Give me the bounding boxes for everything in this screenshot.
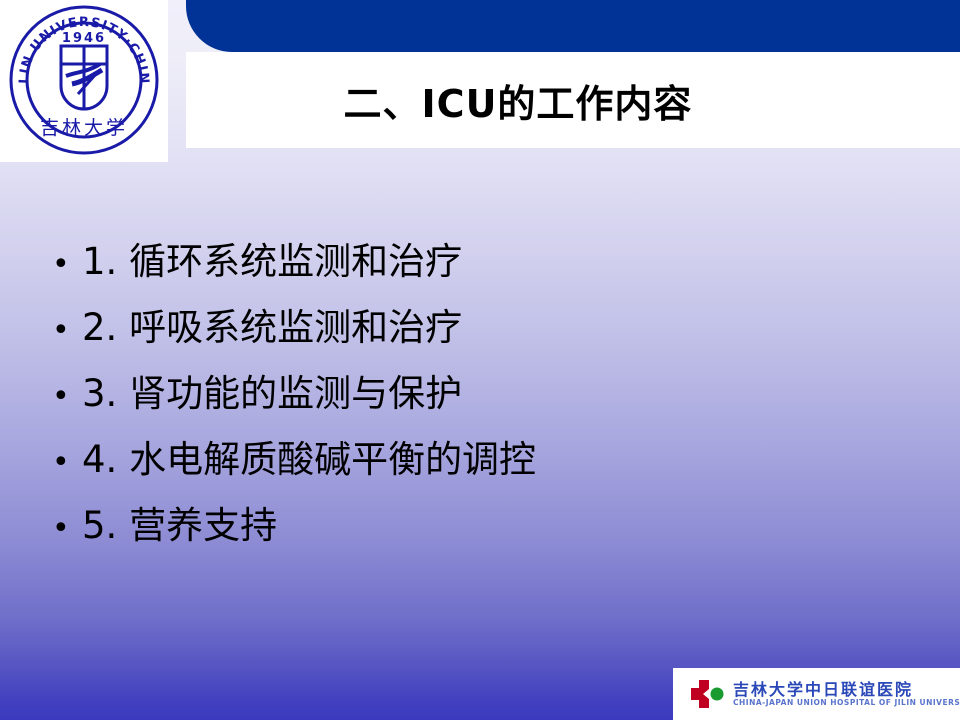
- list-item: • 3. 肾功能的监测与保护: [52, 375, 912, 441]
- hospital-logo-box: 吉林大学中日联谊医院 CHINA-JAPAN UNION HOSPITAL OF…: [673, 668, 960, 720]
- bullet-icon: •: [52, 514, 82, 544]
- list-item-label: 5. 营养支持: [82, 507, 277, 546]
- svg-text:吉林大学: 吉林大学: [40, 117, 128, 139]
- list-item: • 1. 循环系统监测和治疗: [52, 243, 912, 309]
- title-panel: 二、ICU的工作内容: [186, 52, 960, 148]
- list-item: • 2. 呼吸系统监测和治疗: [52, 309, 912, 375]
- jilin-university-seal-icon: JILIN UNIVERSITY·CHINA 1946 吉林大学: [8, 2, 160, 158]
- header-banner: [186, 0, 960, 52]
- hospital-cross-icon: [683, 676, 729, 712]
- page-title: 二、ICU的工作内容: [186, 52, 960, 148]
- hospital-name-cn: 吉林大学中日联谊医院: [733, 681, 960, 699]
- list-item: • 5. 营养支持: [52, 507, 912, 573]
- list-item-label: 3. 肾功能的监测与保护: [82, 375, 462, 414]
- bullet-icon: •: [52, 250, 82, 280]
- list-item-label: 1. 循环系统监测和治疗: [82, 243, 462, 282]
- bullet-icon: •: [52, 382, 82, 412]
- university-seal-box: JILIN UNIVERSITY·CHINA 1946 吉林大学: [0, 0, 168, 162]
- list-item-label: 2. 呼吸系统监测和治疗: [82, 309, 462, 348]
- list-item-label: 4. 水电解质酸碱平衡的调控: [82, 441, 536, 480]
- content-bullet-list: • 1. 循环系统监测和治疗 • 2. 呼吸系统监测和治疗 • 3. 肾功能的监…: [52, 243, 912, 573]
- presentation-slide: 二、ICU的工作内容 JILIN UNIVERSITY·CHINA 1946: [0, 0, 960, 720]
- svg-text:1946: 1946: [62, 31, 106, 46]
- bullet-icon: •: [52, 448, 82, 478]
- hospital-name-en: CHINA-JAPAN UNION HOSPITAL OF JILIN UNIV…: [733, 698, 960, 707]
- bullet-icon: •: [52, 316, 82, 346]
- hospital-logo-text: 吉林大学中日联谊医院 CHINA-JAPAN UNION HOSPITAL OF…: [733, 681, 960, 708]
- list-item: • 4. 水电解质酸碱平衡的调控: [52, 441, 912, 507]
